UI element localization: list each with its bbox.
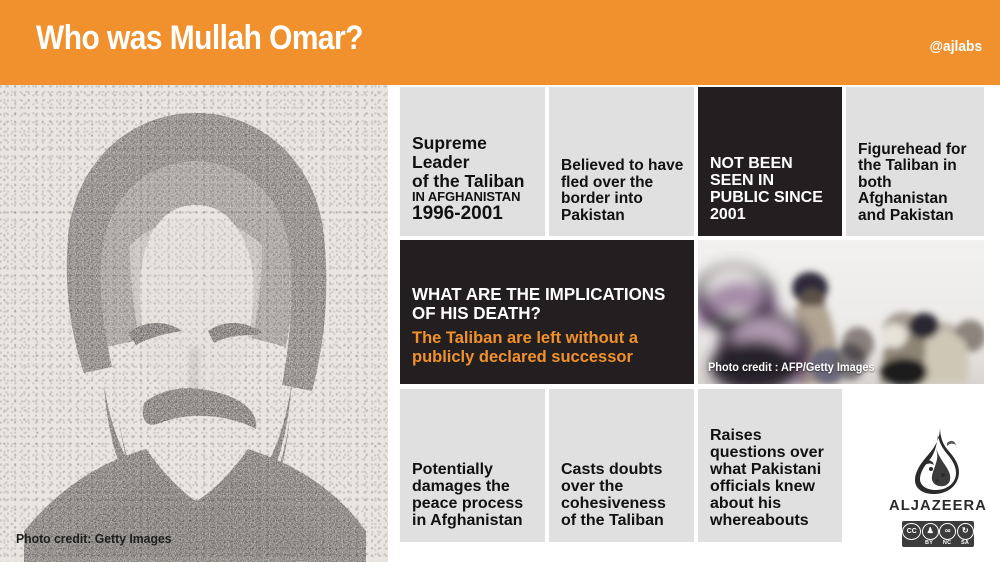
fact-card-pakistani-officials-text: Raises questions over what Pakistani off… <box>710 428 832 530</box>
implications-panel: WHAT ARE THE IMPLICATIONS OF HIS DEATH? … <box>400 240 694 384</box>
fact-line-1: Supreme Leader <box>412 134 535 171</box>
fact-line-2: of the Taliban <box>412 172 535 191</box>
aljazeera-flame-icon <box>907 425 969 495</box>
portrait-photo: Photo credit: Getty Images <box>0 85 388 562</box>
implications-heading: WHAT ARE THE IMPLICATIONS OF HIS DEATH? <box>412 285 678 324</box>
fact-card-fled-border: Believed to have fled over the border in… <box>549 87 694 236</box>
fact-subline: IN AFGHANISTAN <box>412 190 535 204</box>
taliban-photo-credit: Photo credit : AFP/Getty Images <box>708 362 875 374</box>
implications-body: The Taliban are left without a publicly … <box>412 328 678 366</box>
fact-card-figurehead-text: Figurehead for the Taliban in both Afgha… <box>858 142 974 224</box>
fact-card-pakistani-officials: Raises questions over what Pakistani off… <box>698 389 842 542</box>
cc-nc-icon: ∞ <box>939 523 956 540</box>
cc-sa-icon: ↻ <box>957 523 974 540</box>
social-handle: @ajlabs <box>929 38 982 55</box>
aljazeera-wordmark: ALJAZEERA <box>889 497 987 514</box>
fact-card-not-seen: NOT BEEN SEEN IN PUBLIC SINCE 2001 <box>698 87 842 236</box>
creative-commons-badge: CC ♟ ∞ ↻ CC BY NC SA <box>902 521 974 547</box>
header-bar: Who was Mullah Omar? @ajlabs <box>0 0 1000 85</box>
cc-label-sa: SA <box>961 540 969 546</box>
fact-card-fled-border-text: Believed to have fled over the border in… <box>561 158 684 224</box>
fact-card-not-seen-text: NOT BEEN SEEN IN PUBLIC SINCE 2001 <box>710 156 832 224</box>
cc-label-by: BY <box>925 540 933 546</box>
cc-label-nc: NC <box>943 540 951 546</box>
fact-years: 1996-2001 <box>412 204 535 224</box>
fact-card-cohesiveness-text: Casts doubts over the cohesiveness of th… <box>561 462 684 530</box>
fact-card-figurehead: Figurehead for the Taliban in both Afgha… <box>846 87 984 236</box>
aljazeera-logo: ALJAZEERA CC ♟ ∞ ↻ CC BY NC SA <box>888 425 988 545</box>
cc-by-icon: ♟ <box>922 523 939 540</box>
fact-card-peace-process: Potentially damages the peace process in… <box>400 389 545 542</box>
infographic-root: Who was Mullah Omar? @ajlabs <box>0 0 1000 562</box>
portrait-photo-credit: Photo credit: Getty Images <box>16 531 171 546</box>
fact-card-peace-process-text: Potentially damages the peace process in… <box>412 462 535 530</box>
cc-icon: CC <box>902 523 921 540</box>
fact-card-supreme-leader: Supreme Leader of the Taliban IN AFGHANI… <box>400 87 545 236</box>
page-title: Who was Mullah Omar? <box>36 19 363 58</box>
taliban-photo: Photo credit : AFP/Getty Images <box>698 240 984 384</box>
fact-card-cohesiveness: Casts doubts over the cohesiveness of th… <box>549 389 694 542</box>
portrait-illustration <box>0 85 388 562</box>
fact-card-supreme-leader-text: Supreme Leader of the Taliban IN AFGHANI… <box>412 134 535 224</box>
